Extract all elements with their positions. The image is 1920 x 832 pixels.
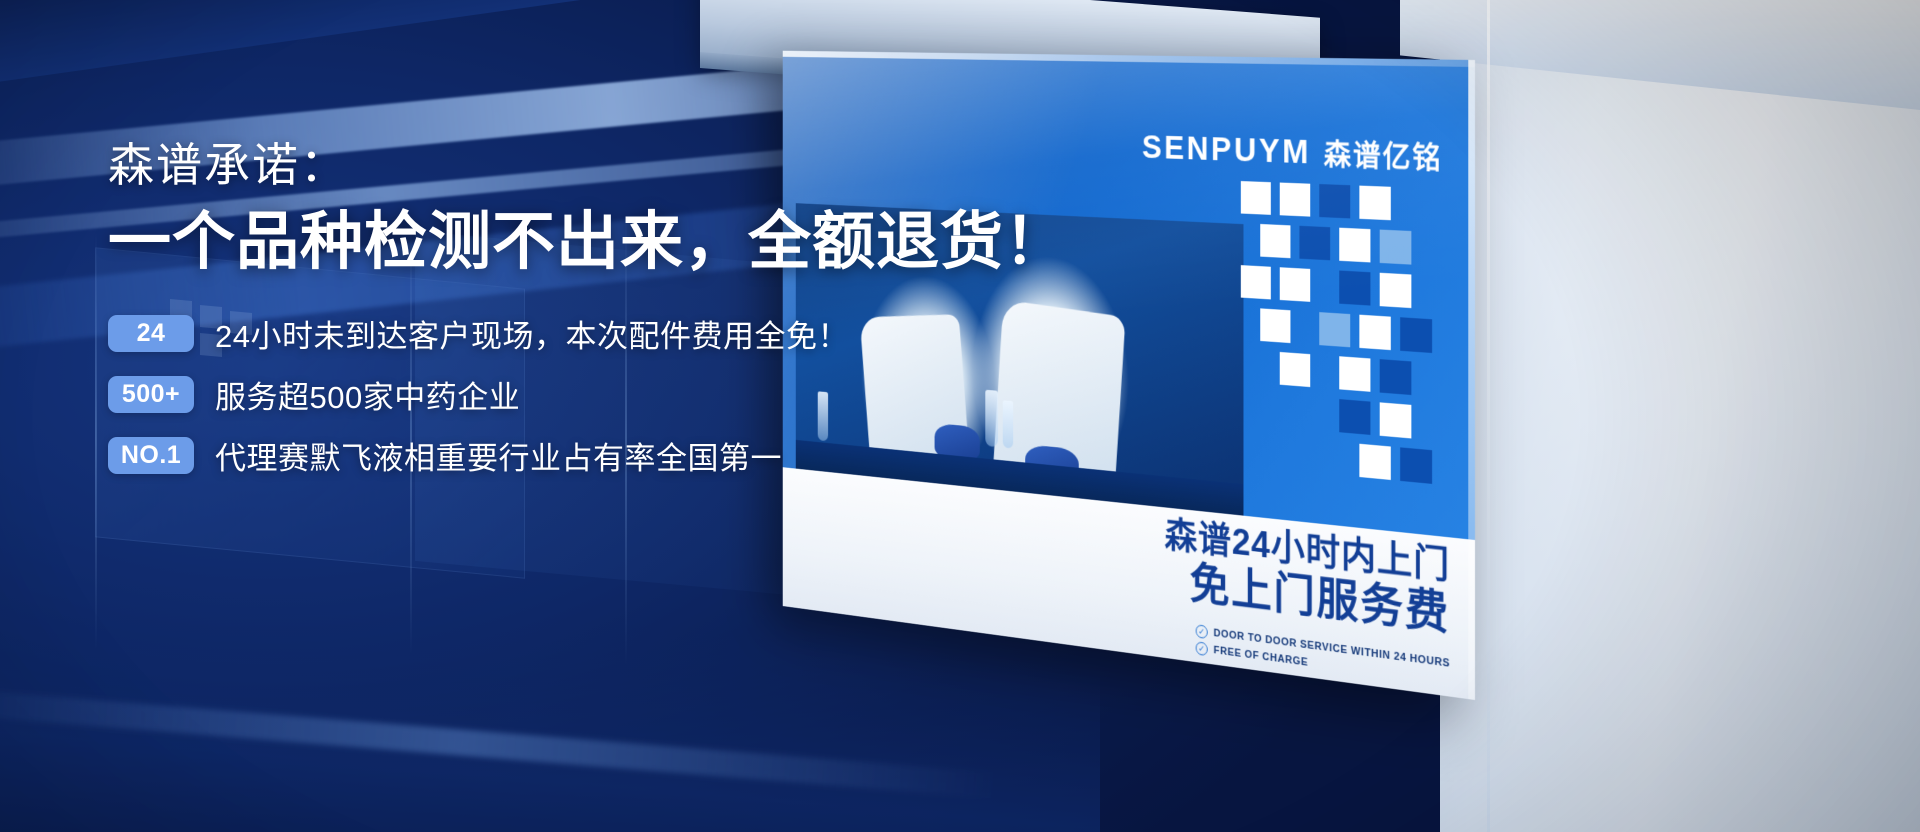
checker-square <box>1380 402 1412 438</box>
checker-square <box>1241 181 1271 215</box>
checker-square <box>1400 447 1432 484</box>
check-circle-icon: ✓ <box>1196 624 1208 639</box>
checker-square <box>1380 273 1412 308</box>
checker-square <box>1380 230 1412 265</box>
promo-text-block: 森谱承诺： 一个品种检测不出来，全额退货！ 24 24小时未到达客户现场，本次配… <box>108 140 1108 494</box>
poster-frame-right <box>1468 60 1475 700</box>
checker-square <box>1400 317 1432 353</box>
promo-headline: 一个品种检测不出来，全额退货！ <box>108 207 1108 278</box>
checker-square <box>1339 228 1370 263</box>
promo-eyebrow: 森谱承诺： <box>108 140 1108 191</box>
badge-500plus: 500+ <box>108 376 194 413</box>
checker-square <box>1260 224 1290 258</box>
banner-stage: SENPUYM 森谱亿铭 <box>0 0 1920 832</box>
promo-bullet-text-3: 代理赛默飞液相重要行业占有率全国第一 <box>215 433 782 478</box>
checker-square <box>1280 183 1310 217</box>
right-wall-shading <box>1440 0 1920 832</box>
promo-bullet-item: NO.1 代理赛默飞液相重要行业占有率全国第一 <box>108 433 1108 478</box>
checker-square <box>1299 226 1330 260</box>
checker-square <box>1280 267 1310 302</box>
checker-square <box>1241 265 1271 299</box>
promo-bullet-list: 24 24小时未到达客户现场，本次配件费用全免！ 500+ 服务超500家中药企… <box>108 311 1108 478</box>
checker-square <box>1359 186 1390 221</box>
promo-bullet-text-2: 服务超500家中药企业 <box>215 372 520 417</box>
checker-square <box>1319 312 1350 347</box>
checker-square <box>1359 444 1390 480</box>
badge-no1: NO.1 <box>108 437 194 474</box>
promo-bullet-item: 24 24小时未到达客户现场，本次配件费用全免！ <box>108 311 1108 356</box>
checker-square <box>1260 308 1290 343</box>
check-circle-icon: ✓ <box>1196 641 1208 656</box>
badge-24: 24 <box>108 315 194 352</box>
promo-bullet-text-1: 24小时未到达客户现场，本次配件费用全免！ <box>215 311 849 356</box>
poster-band-headline: 森谱24小时内上门 免上门服务费 <box>1165 515 1451 639</box>
checker-square <box>1339 356 1370 392</box>
poster-logo-en: SENPUYM <box>1142 129 1311 173</box>
checker-square <box>1339 399 1370 435</box>
checker-square <box>1380 359 1412 395</box>
checker-square <box>1359 315 1390 350</box>
wall-corner-edge <box>1487 0 1490 832</box>
promo-bullet-item: 500+ 服务超500家中药企业 <box>108 372 1108 417</box>
checker-square <box>1339 271 1370 306</box>
checker-square <box>1280 352 1310 387</box>
poster-logo-cn: 森谱亿铭 <box>1324 130 1443 177</box>
checker-square <box>1319 184 1350 218</box>
poster-checker-pattern <box>1241 181 1470 569</box>
